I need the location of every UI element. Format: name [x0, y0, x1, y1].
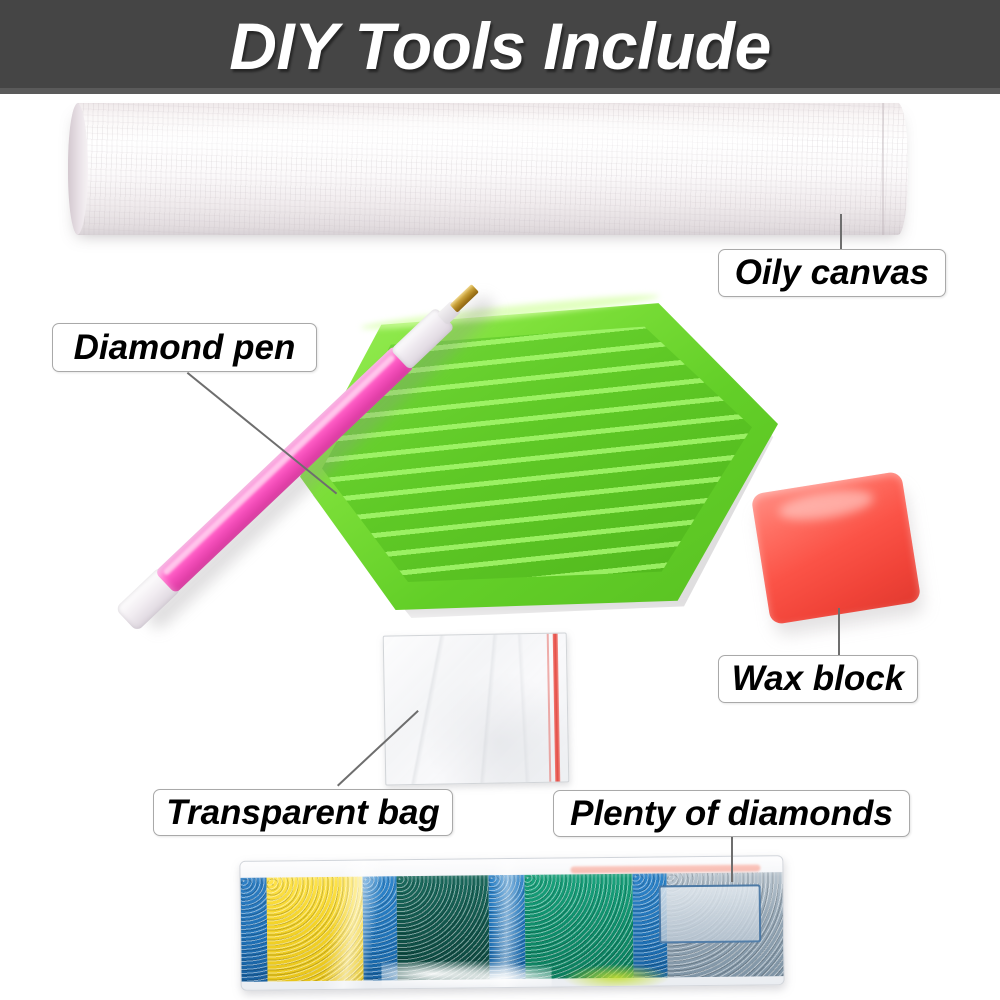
callout-transparent-bag: Transparent bag [153, 789, 453, 836]
packet-lime-drills [561, 963, 671, 986]
callout-oily-canvas-label: Oily canvas [735, 253, 930, 293]
callout-plenty-of-diamonds: Plenty of diamonds [553, 790, 910, 837]
leader-line-oily-canvas [840, 214, 842, 250]
callout-oily-canvas: Oily canvas [718, 249, 946, 297]
packet-white-tuft [381, 961, 551, 991]
callout-wax-block-label: Wax block [732, 659, 904, 699]
diamond-packets [239, 855, 784, 991]
leader-line-wax-block [838, 608, 840, 655]
zip-bag-creases [384, 633, 569, 784]
page-title: DIY Tools Include [0, 4, 1000, 88]
canvas-seam [882, 103, 884, 235]
header-banner-underline [0, 88, 1000, 94]
zip-bag [383, 632, 570, 785]
callout-diamond-pen-label: Diamond pen [74, 328, 296, 368]
callout-plenty-of-diamonds-label: Plenty of diamonds [570, 794, 893, 834]
packet-blue-edge [241, 878, 268, 982]
drill-tray [300, 300, 800, 630]
packet-yellow [267, 877, 364, 982]
product-infographic: DIY Tools Include [0, 0, 1000, 1000]
canvas-sheen [108, 121, 788, 163]
packet-label-card [659, 884, 762, 943]
callout-diamond-pen: Diamond pen [52, 323, 317, 372]
pen-metal-tip [450, 284, 479, 313]
canvas-roll [68, 103, 908, 235]
callout-transparent-bag-label: Transparent bag [166, 793, 440, 833]
leader-line-plenty-of-diamonds [731, 836, 733, 882]
callout-wax-block: Wax block [718, 655, 918, 703]
